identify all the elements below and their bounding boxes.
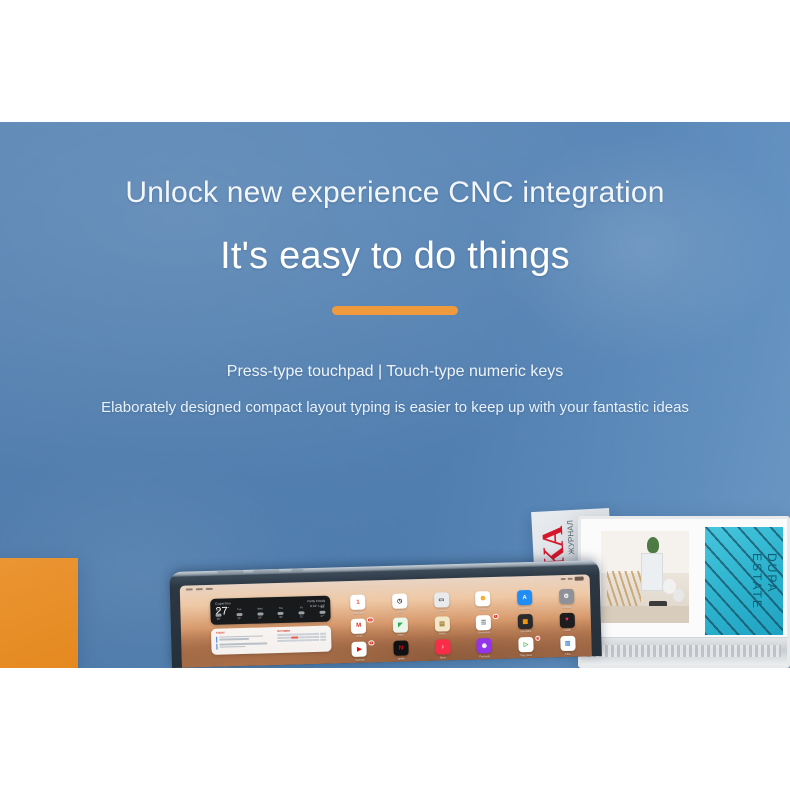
notification-badge: 4	[493, 613, 498, 618]
weather-forecast-row: Mon28° Tue29° Wed26° Thu30° Fri31° Sat27…	[215, 606, 325, 622]
clock-icon: ◷	[392, 593, 407, 608]
photos-icon: ❁	[475, 591, 490, 606]
forecast-icon	[278, 612, 284, 615]
keyboard-keys	[587, 645, 781, 657]
app-icon-files[interactable]: ▥Files	[550, 635, 586, 655]
app-label: Settings	[562, 605, 571, 608]
app-icon-podcasts[interactable]: ◉Podcasts	[466, 638, 502, 658]
app-icon-youtube[interactable]: ▶9YouTube	[341, 641, 377, 661]
photo-plant	[647, 537, 659, 553]
forecast-day: Mon28°	[215, 609, 221, 622]
calendar-icon: 1	[350, 595, 365, 610]
tablet-screen: Cupertino 27° Partly Cloudy H:31° L:19°	[180, 574, 592, 667]
event-color-bar	[216, 636, 217, 642]
accent-divider	[332, 306, 458, 315]
forecast-day-name: Mon	[215, 609, 221, 613]
weather-widget[interactable]: Cupertino 27° Partly Cloudy H:31° L:19°	[210, 596, 331, 625]
app-label: Play Store	[520, 653, 532, 656]
forecast-day: Tue29°	[236, 608, 242, 621]
forecast-icon	[216, 614, 222, 617]
music-icon: ♪	[435, 639, 450, 654]
page-title: Unlock new experience CNC integration	[0, 176, 790, 210]
status-right	[561, 577, 584, 581]
gmail-icon: M	[351, 618, 366, 633]
description-line: Elaborately designed compact layout typi…	[0, 399, 790, 416]
app-icon-photos[interactable]: ❁Photos	[465, 591, 501, 611]
app-icon-music[interactable]: ♪Music	[425, 639, 461, 659]
forecast-temp: 26°	[257, 617, 263, 621]
interior-photo	[601, 531, 689, 623]
app-icon-maps[interactable]: ◤Maps	[382, 617, 418, 637]
youtube-icon: ▶	[352, 642, 367, 657]
tablet-body: Cupertino 27° Partly Cloudy H:31° L:19°	[169, 560, 602, 668]
forecast-day-name: Tue	[236, 608, 242, 612]
forecast-temp: 29°	[236, 617, 242, 621]
files-icon: ▥	[560, 636, 575, 651]
app-label: YouTube	[355, 658, 365, 661]
status-left	[186, 588, 213, 591]
calendar-events: TODAY	[216, 630, 273, 652]
play-store-icon: ▷	[518, 637, 533, 652]
app-icon-health[interactable]: ♥Health	[549, 612, 585, 632]
signal-icon	[568, 578, 573, 581]
app-icon-camera[interactable]: ▭Camera	[423, 592, 459, 612]
forecast-day: Sat27°	[319, 606, 325, 619]
forecast-day-name: Thu	[278, 607, 284, 611]
volume-down-button[interactable]	[253, 568, 279, 574]
power-button[interactable]	[291, 567, 303, 572]
calendar-grid	[277, 633, 326, 643]
app-label: Podcasts	[479, 655, 489, 658]
app-icon-app-store[interactable]: AApp Store	[507, 590, 543, 610]
forecast-icon	[319, 611, 325, 614]
app-label: Wallet	[439, 632, 446, 635]
volume-up-button[interactable]	[217, 569, 243, 575]
photo-floor	[601, 606, 689, 623]
ad-brand-text: DUPA ESTATE	[749, 553, 779, 610]
app-label: Gmail	[356, 635, 363, 638]
gear-icon: ⚙	[559, 589, 574, 604]
photo-cabinet	[641, 553, 663, 591]
screenshot-root: ЛКА ЖУРНАЛ	[0, 0, 790, 790]
app-label: Files	[565, 652, 570, 655]
divider-wrap	[0, 306, 790, 315]
page-subtitle: It's easy to do things	[0, 235, 790, 278]
forecast-icon	[299, 611, 305, 614]
notification-badge: 3	[535, 636, 540, 641]
app-icon-gmail[interactable]: M12Gmail	[341, 618, 377, 638]
event-text	[219, 643, 267, 649]
app-label: Maps	[398, 634, 404, 637]
notification-badge: 12	[367, 617, 374, 622]
forecast-day: Fri31°	[299, 606, 305, 619]
forecast-icon	[257, 613, 263, 616]
app-icon-clock[interactable]: ◷Clock	[382, 593, 418, 613]
maps-icon: ◤	[393, 617, 408, 632]
camera-icon: ▭	[434, 592, 449, 607]
poster-subtitle: ЖУРНАЛ	[566, 520, 577, 555]
forecast-icon	[236, 613, 242, 616]
forecast-temp: 30°	[278, 616, 284, 620]
app-label: Music	[440, 656, 447, 659]
app-label: Health	[564, 629, 571, 632]
app-icon-play-store[interactable]: ▷3Play Store	[508, 637, 544, 657]
app-label: Calendar	[353, 611, 363, 614]
app-label: Netflix	[398, 657, 405, 660]
app-store-icon: A	[517, 590, 532, 605]
forecast-day-name: Wed	[257, 608, 263, 612]
app-icon-netflix[interactable]: NNetflix	[383, 640, 419, 660]
app-label: Calculator	[520, 630, 531, 633]
tablet-device: Cupertino 27° Partly Cloudy H:31° L:19°	[169, 560, 602, 668]
forecast-temp: 31°	[299, 615, 305, 619]
orange-accent-card	[0, 558, 78, 668]
forecast-day: Thu30°	[278, 607, 284, 620]
health-icon: ♥	[559, 612, 574, 627]
ad-panel: DUPA ESTATE	[705, 527, 783, 635]
app-icon-reminders[interactable]: ☰4Reminders	[466, 614, 502, 634]
calendar-month: OCTOBER	[277, 629, 326, 650]
ad-brand-line-1: DUPA	[765, 553, 779, 593]
app-label: Clock	[397, 610, 403, 613]
calculator-icon: ▦	[518, 613, 533, 628]
app-icon-settings[interactable]: ⚙Settings	[548, 588, 584, 608]
promo-banner: ЛКА ЖУРНАЛ	[0, 122, 790, 668]
forecast-day-name: Fri	[299, 606, 305, 610]
forecast-day-name: Sat	[319, 606, 325, 610]
monitor-screen: DUPA ESTATE	[581, 519, 787, 643]
event-text	[219, 635, 263, 641]
monitor-base	[581, 637, 787, 665]
reminders-icon: ☰	[476, 615, 491, 630]
notification-badge: 9	[369, 640, 374, 645]
app-label: Photos	[479, 608, 487, 611]
desktop-monitor: DUPA ESTATE	[578, 516, 790, 668]
app-label: App Store	[519, 606, 530, 609]
event-color-bar	[216, 644, 217, 650]
app-icon-calculator[interactable]: ▦Calculator	[507, 613, 543, 633]
ad-brand-line-2: ESTATE	[750, 553, 764, 610]
feature-line: Press-type touchpad | Touch-type numeric…	[0, 363, 790, 381]
wifi-icon	[561, 578, 566, 581]
podcasts-icon: ◉	[477, 638, 492, 653]
wallet-icon: ▤	[434, 616, 449, 631]
forecast-temp: 27°	[320, 615, 326, 619]
battery-icon	[575, 577, 584, 581]
netflix-icon: N	[393, 640, 408, 655]
app-icon-calendar[interactable]: 1Calendar	[340, 594, 376, 614]
app-icon-wallet[interactable]: ▤Wallet	[424, 615, 460, 635]
calendar-widget[interactable]: TODAY OCTOBER	[211, 626, 332, 655]
app-label: Camera	[437, 609, 446, 612]
banner-copy: Unlock new experience CNC integration It…	[0, 122, 790, 416]
app-grid: 1Calendar ◷Clock ▭Camera ❁Photos AApp St…	[340, 586, 586, 663]
calendar-event	[216, 635, 272, 643]
forecast-day: Wed26°	[257, 608, 263, 621]
forecast-temp: 28°	[216, 618, 222, 622]
photo-balloon-2	[673, 589, 684, 602]
calendar-event	[216, 642, 272, 650]
app-label: Reminders	[478, 631, 490, 634]
